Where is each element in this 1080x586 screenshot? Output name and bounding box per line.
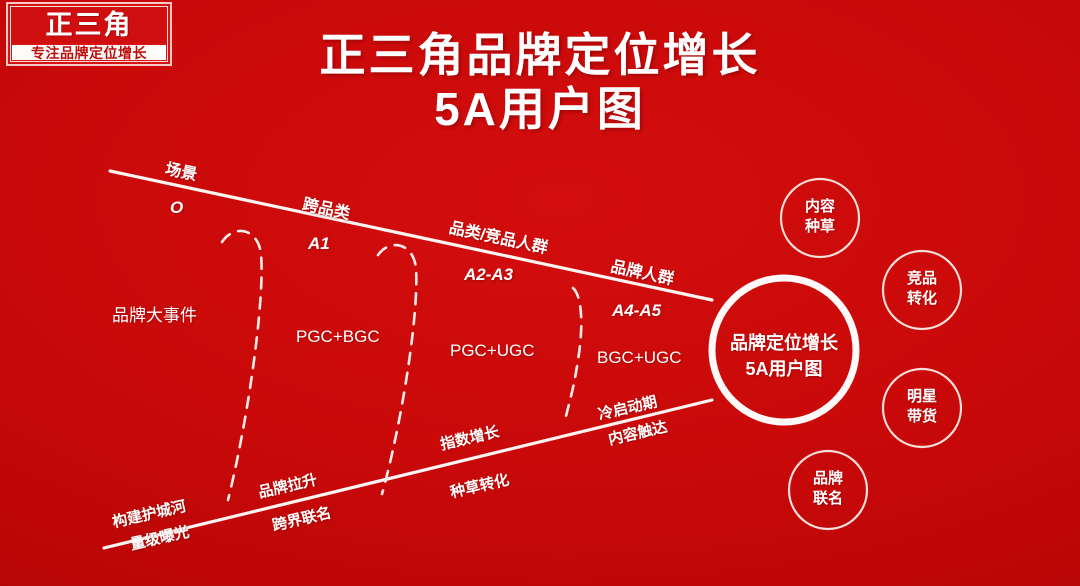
- funnel-bottom-edge: [104, 400, 712, 548]
- bubble-label-content-seeding: 内容 种草: [780, 197, 860, 238]
- bubble-2-line2: 转化: [882, 289, 962, 309]
- bubble-3-line2: 带货: [882, 407, 962, 427]
- bubble-4-line2: 联名: [788, 489, 868, 509]
- segment-3-content: PGC+UGC: [450, 340, 535, 361]
- hub-label: 品牌定位增长 5A用户图: [714, 330, 854, 382]
- hub-label-line2: 5A用户图: [714, 356, 854, 382]
- funnel-divider-3: [565, 288, 581, 420]
- poster-canvas: 正三角 专注品牌定位增长 正三角品牌定位增长 5A用户图 场景 O 品牌大事件 …: [0, 0, 1080, 586]
- funnel-divider-2: [378, 245, 416, 494]
- bubble-2-line1: 竞品: [882, 269, 962, 289]
- segment-1-content: 品牌大事件: [112, 305, 197, 326]
- segment-2-stage: A1: [308, 233, 330, 254]
- segment-2-content: PGC+BGC: [296, 326, 380, 347]
- bubble-4-line1: 品牌: [788, 469, 868, 489]
- bubble-label-celebrity-sales: 明星 带货: [882, 387, 962, 428]
- hub-label-line1: 品牌定位增长: [714, 330, 854, 356]
- segment-1-stage: O: [170, 197, 183, 218]
- bubble-1-line1: 内容: [780, 197, 860, 217]
- bubble-label-competitor-conversion: 竞品 转化: [882, 269, 962, 310]
- funnel-divider-1: [222, 231, 262, 500]
- bubble-1-line2: 种草: [780, 217, 860, 237]
- segment-3-stage: A2-A3: [464, 264, 513, 285]
- segment-4-content: BGC+UGC: [597, 347, 682, 368]
- funnel-top-edge: [110, 171, 712, 300]
- bubble-label-brand-collab: 品牌 联名: [788, 469, 868, 510]
- bubble-3-line1: 明星: [882, 387, 962, 407]
- segment-4-stage: A4-A5: [612, 300, 661, 321]
